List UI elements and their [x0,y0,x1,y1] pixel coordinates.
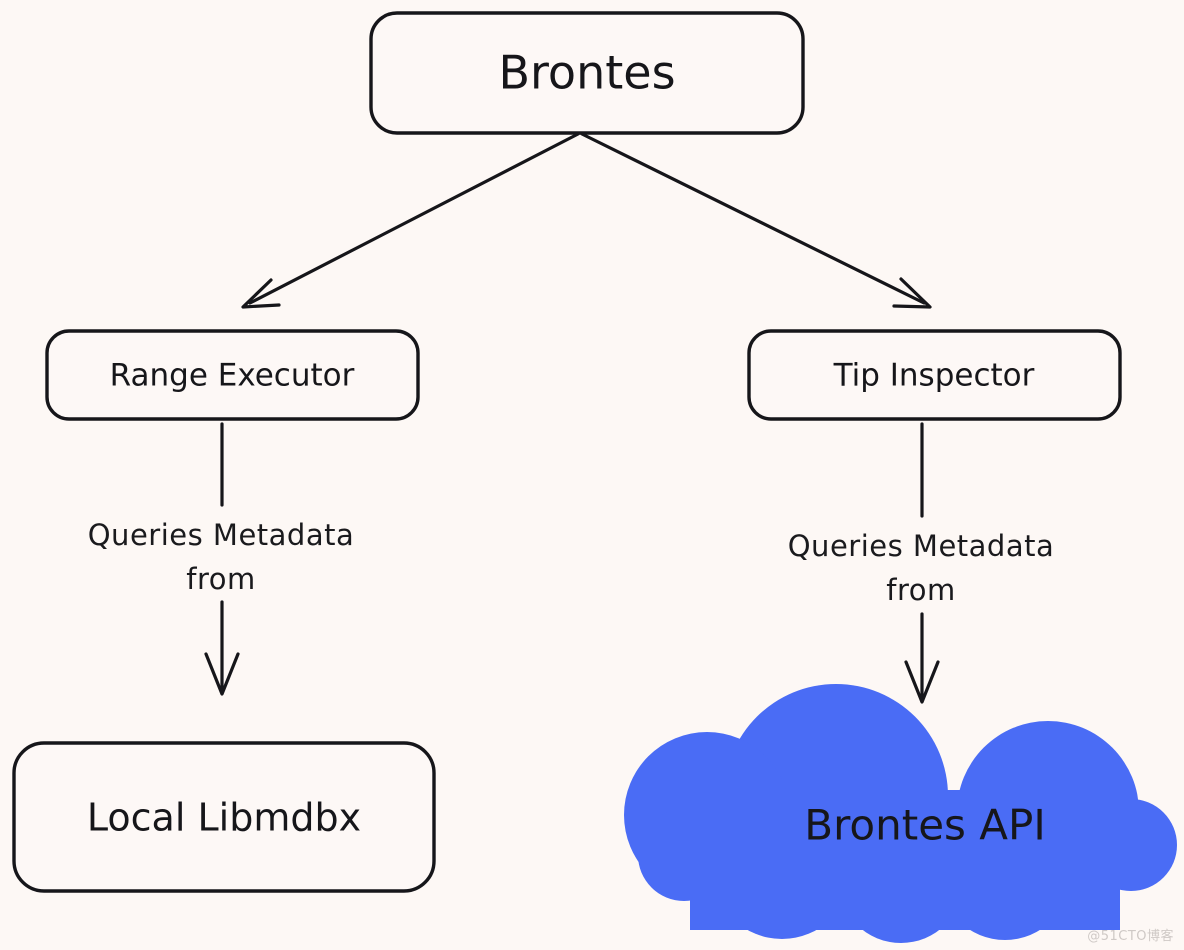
node-tip-inspector[interactable]: Tip Inspector [749,331,1120,419]
node-local-libmdbx-label: Local Libmdbx [87,796,361,840]
node-brontes-api[interactable]: Brontes API [624,684,1177,943]
node-brontes-api-label: Brontes API [804,801,1045,850]
node-range-executor[interactable]: Range Executor [47,331,418,419]
edge-label-line1: Queries Metadata [88,518,355,552]
edge-label-range-executor: Queries Metadata from [88,518,355,596]
node-range-executor-label: Range Executor [110,358,355,394]
edge-label-tip-inspector: Queries Metadata from [788,529,1055,607]
node-brontes[interactable]: Brontes [371,13,803,133]
edge-label-line1: Queries Metadata [788,529,1055,563]
edge-brontes-to-tip-inspector [582,134,930,307]
watermark: @51CTO博客 [1087,925,1174,944]
node-local-libmdbx[interactable]: Local Libmdbx [14,743,434,891]
architecture-diagram: Queries Metadata from Queries Metadata f… [0,0,1184,950]
edge-range-executor-to-local-libmdbx [206,424,238,694]
node-tip-inspector-label: Tip Inspector [833,358,1035,394]
diagram-canvas: Queries Metadata from Queries Metadata f… [0,0,1184,950]
edge-brontes-to-range-executor [243,134,578,307]
edge-tip-inspector-to-brontes-api [906,424,938,702]
node-brontes-label: Brontes [498,46,675,100]
edge-label-line2: from [886,573,956,607]
edge-label-line2: from [186,562,256,596]
